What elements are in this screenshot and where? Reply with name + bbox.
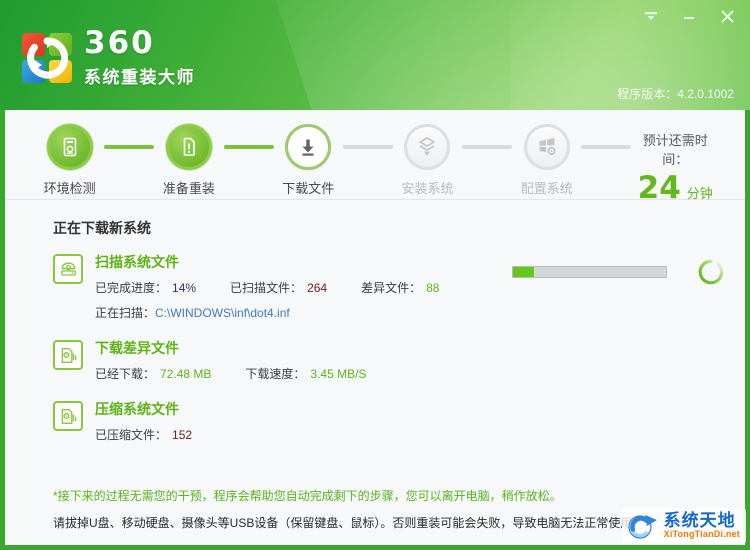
step-item-configure-system[interactable]: 配置系统 (512, 124, 581, 197)
download-progress-area (512, 258, 725, 286)
step-connector-3 (343, 145, 393, 149)
step-circle (404, 124, 450, 170)
step-connector-2 (224, 145, 274, 149)
app-window: 360 系统重装大师 程序版本：4.2.0.10 (0, 0, 750, 550)
field-downloaded-size: 已经下载：72.48 MB (95, 365, 211, 382)
footer-notes: *接下来的过程无需您的干预，程序会帮助您自动完成剩下的步骤，您可以离开电脑，稍作… (53, 487, 713, 531)
watermark: 系统天地 XiTongTianDi.net (622, 508, 746, 544)
field-current-scan-path: 正在扫描：C:\WINDOWS\inf\dot4.inf (95, 304, 745, 321)
footer-note-secondary: 请拔掉U盘、移动硬盘、摄像头等USB设备（保留键盘、鼠标）。否则重装可能会失败，… (53, 514, 713, 531)
download-arrow-icon (296, 135, 320, 159)
install-box-icon (415, 135, 439, 159)
step-progress-bar: 环境检测 准备重装 (5, 110, 745, 200)
step-label: 安装系统 (401, 178, 453, 197)
field-compressed-files: 已压缩文件：152 (95, 426, 192, 443)
field-scanned-files: 已扫描文件：264 (230, 279, 327, 296)
windows-gear-icon (535, 135, 559, 159)
logo-subtitle: 系统重装大师 (84, 63, 195, 88)
step-circle (166, 124, 212, 170)
file-gear-icon (53, 340, 83, 370)
step-connector-1 (104, 145, 154, 149)
circular-arrow-icon (26, 37, 68, 79)
estimated-time: 预计还需时间： 24 分钟 (631, 130, 719, 206)
step-item-install-system[interactable]: 安装系统 (393, 124, 462, 197)
step-label: 下载文件 (282, 178, 334, 197)
loading-spinner-icon (697, 258, 725, 286)
task-item-scan-system-files: 扫描系统文件 已完成进度：14% 已扫描文件：264 差异文件：88 (53, 252, 745, 321)
progress-bar-fill (513, 267, 534, 277)
task-fields: 已经下载：72.48 MB 下载速度：3.45 MB/S (95, 365, 745, 382)
document-alert-icon (178, 136, 200, 158)
main-body: 环境检测 准备重装 (5, 110, 745, 545)
task-name: 下载差异文件 (95, 338, 745, 358)
watermark-logo-icon (625, 511, 659, 541)
step-label: 环境检测 (44, 178, 96, 197)
step-circle (285, 124, 331, 170)
task-list: 正在下载新系统 扫描系统文件 已完成进度：14% (5, 200, 745, 443)
field-download-speed: 下载速度：3.45 MB/S (245, 365, 366, 382)
watermark-chinese-text: 系统天地 (664, 512, 740, 530)
hard-drive-scan-icon (53, 254, 83, 284)
step-label: 配置系统 (521, 178, 573, 197)
menu-button[interactable] (640, 5, 662, 27)
close-button[interactable] (716, 5, 738, 27)
logo-number: 360 (84, 28, 195, 59)
step-connector-5 (581, 145, 631, 149)
estimated-time-label: 预计还需时间： (631, 130, 719, 168)
version-label: 程序版本：4.2.0.1002 (617, 85, 734, 102)
task-item-compress-system-files: 压缩系统文件 已压缩文件：152 (53, 399, 745, 443)
footer-note-primary: *接下来的过程无需您的干预，程序会帮助您自动完成剩下的步骤，您可以离开电脑，稍作… (53, 487, 713, 504)
file-gear-icon (53, 401, 83, 431)
progress-bar (512, 266, 667, 278)
field-scan-progress: 已完成进度：14% (95, 279, 196, 296)
title-bar: 360 系统重装大师 程序版本：4.2.0.10 (0, 0, 750, 110)
app-logo: 360 系统重装大师 (22, 28, 195, 88)
computer-tower-icon (59, 136, 81, 158)
step-item-download-files[interactable]: 下载文件 (274, 124, 343, 197)
task-item-download-diff-files: 下载差异文件 已经下载：72.48 MB 下载速度：3.45 MB/S (53, 338, 745, 382)
360-logo-icon (22, 33, 72, 83)
window-bottom-border (0, 545, 750, 550)
watermark-site-text: XiTongTianDi.net (664, 530, 740, 539)
step-circle (47, 124, 93, 170)
window-controls (640, 5, 738, 27)
field-diff-files: 差异文件：88 (361, 279, 439, 296)
step-circle (524, 124, 570, 170)
step-item-environment-check[interactable]: 环境检测 (35, 124, 104, 197)
step-label: 准备重装 (163, 178, 215, 197)
task-name: 压缩系统文件 (95, 399, 745, 419)
step-item-prepare-reinstall[interactable]: 准备重装 (154, 124, 223, 197)
section-title: 正在下载新系统 (53, 218, 745, 238)
step-connector-4 (462, 145, 512, 149)
minimize-button[interactable] (678, 5, 700, 27)
task-fields: 已压缩文件：152 (95, 426, 745, 443)
